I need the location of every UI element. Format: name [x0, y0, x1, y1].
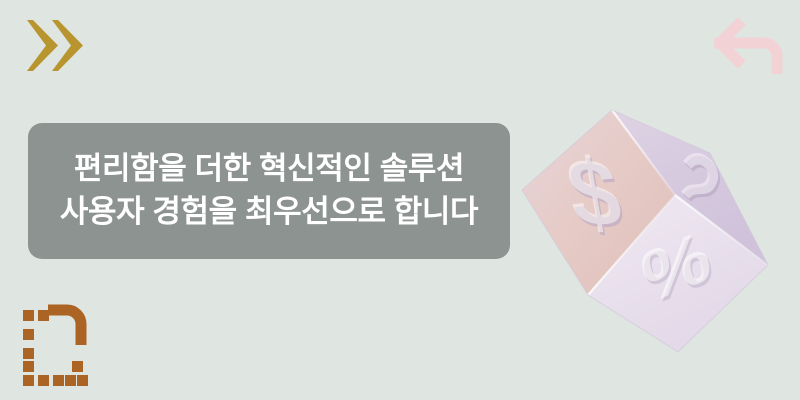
headline-plaque: 편리함을 더한 혁신적인 솔루션 사용자 경험을 최우선으로 합니다	[28, 123, 510, 259]
headline-line-1: 편리함을 더한 혁신적인 솔루션	[74, 148, 464, 191]
banner-canvas: 편리함을 더한 혁신적인 솔루션 사용자 경험을 최우선으로 합니다	[0, 0, 800, 400]
border-radius-corner-icon	[20, 303, 88, 387]
3d-symbol-cube: $ $ ? ? %	[505, 95, 790, 370]
headline-line-2: 사용자 경험을 최우선으로 합니다	[60, 191, 478, 234]
double-chevron-right-icon	[24, 16, 86, 76]
reply-arrow-icon	[714, 16, 784, 74]
